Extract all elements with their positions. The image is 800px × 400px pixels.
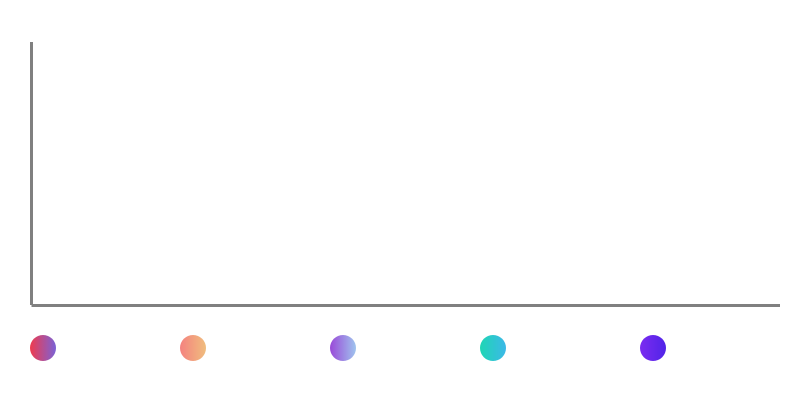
legend-item-intellij[interactable]: [330, 335, 480, 361]
legend-swatch-intellij: [330, 335, 356, 361]
legend-swatch-eclipse: [180, 335, 206, 361]
legend-item-atom[interactable]: [30, 335, 180, 361]
legend-item-eclipse[interactable]: [180, 335, 330, 361]
legend-swatch-visual-studio: [640, 335, 666, 361]
chart-legend: [0, 328, 800, 368]
legend-swatch-atom: [30, 335, 56, 361]
legend-swatch-sublime-text: [480, 335, 506, 361]
line-chart: [0, 0, 800, 400]
legend-item-visual-studio[interactable]: [640, 335, 678, 361]
legend-item-sublime-text[interactable]: [480, 335, 640, 361]
